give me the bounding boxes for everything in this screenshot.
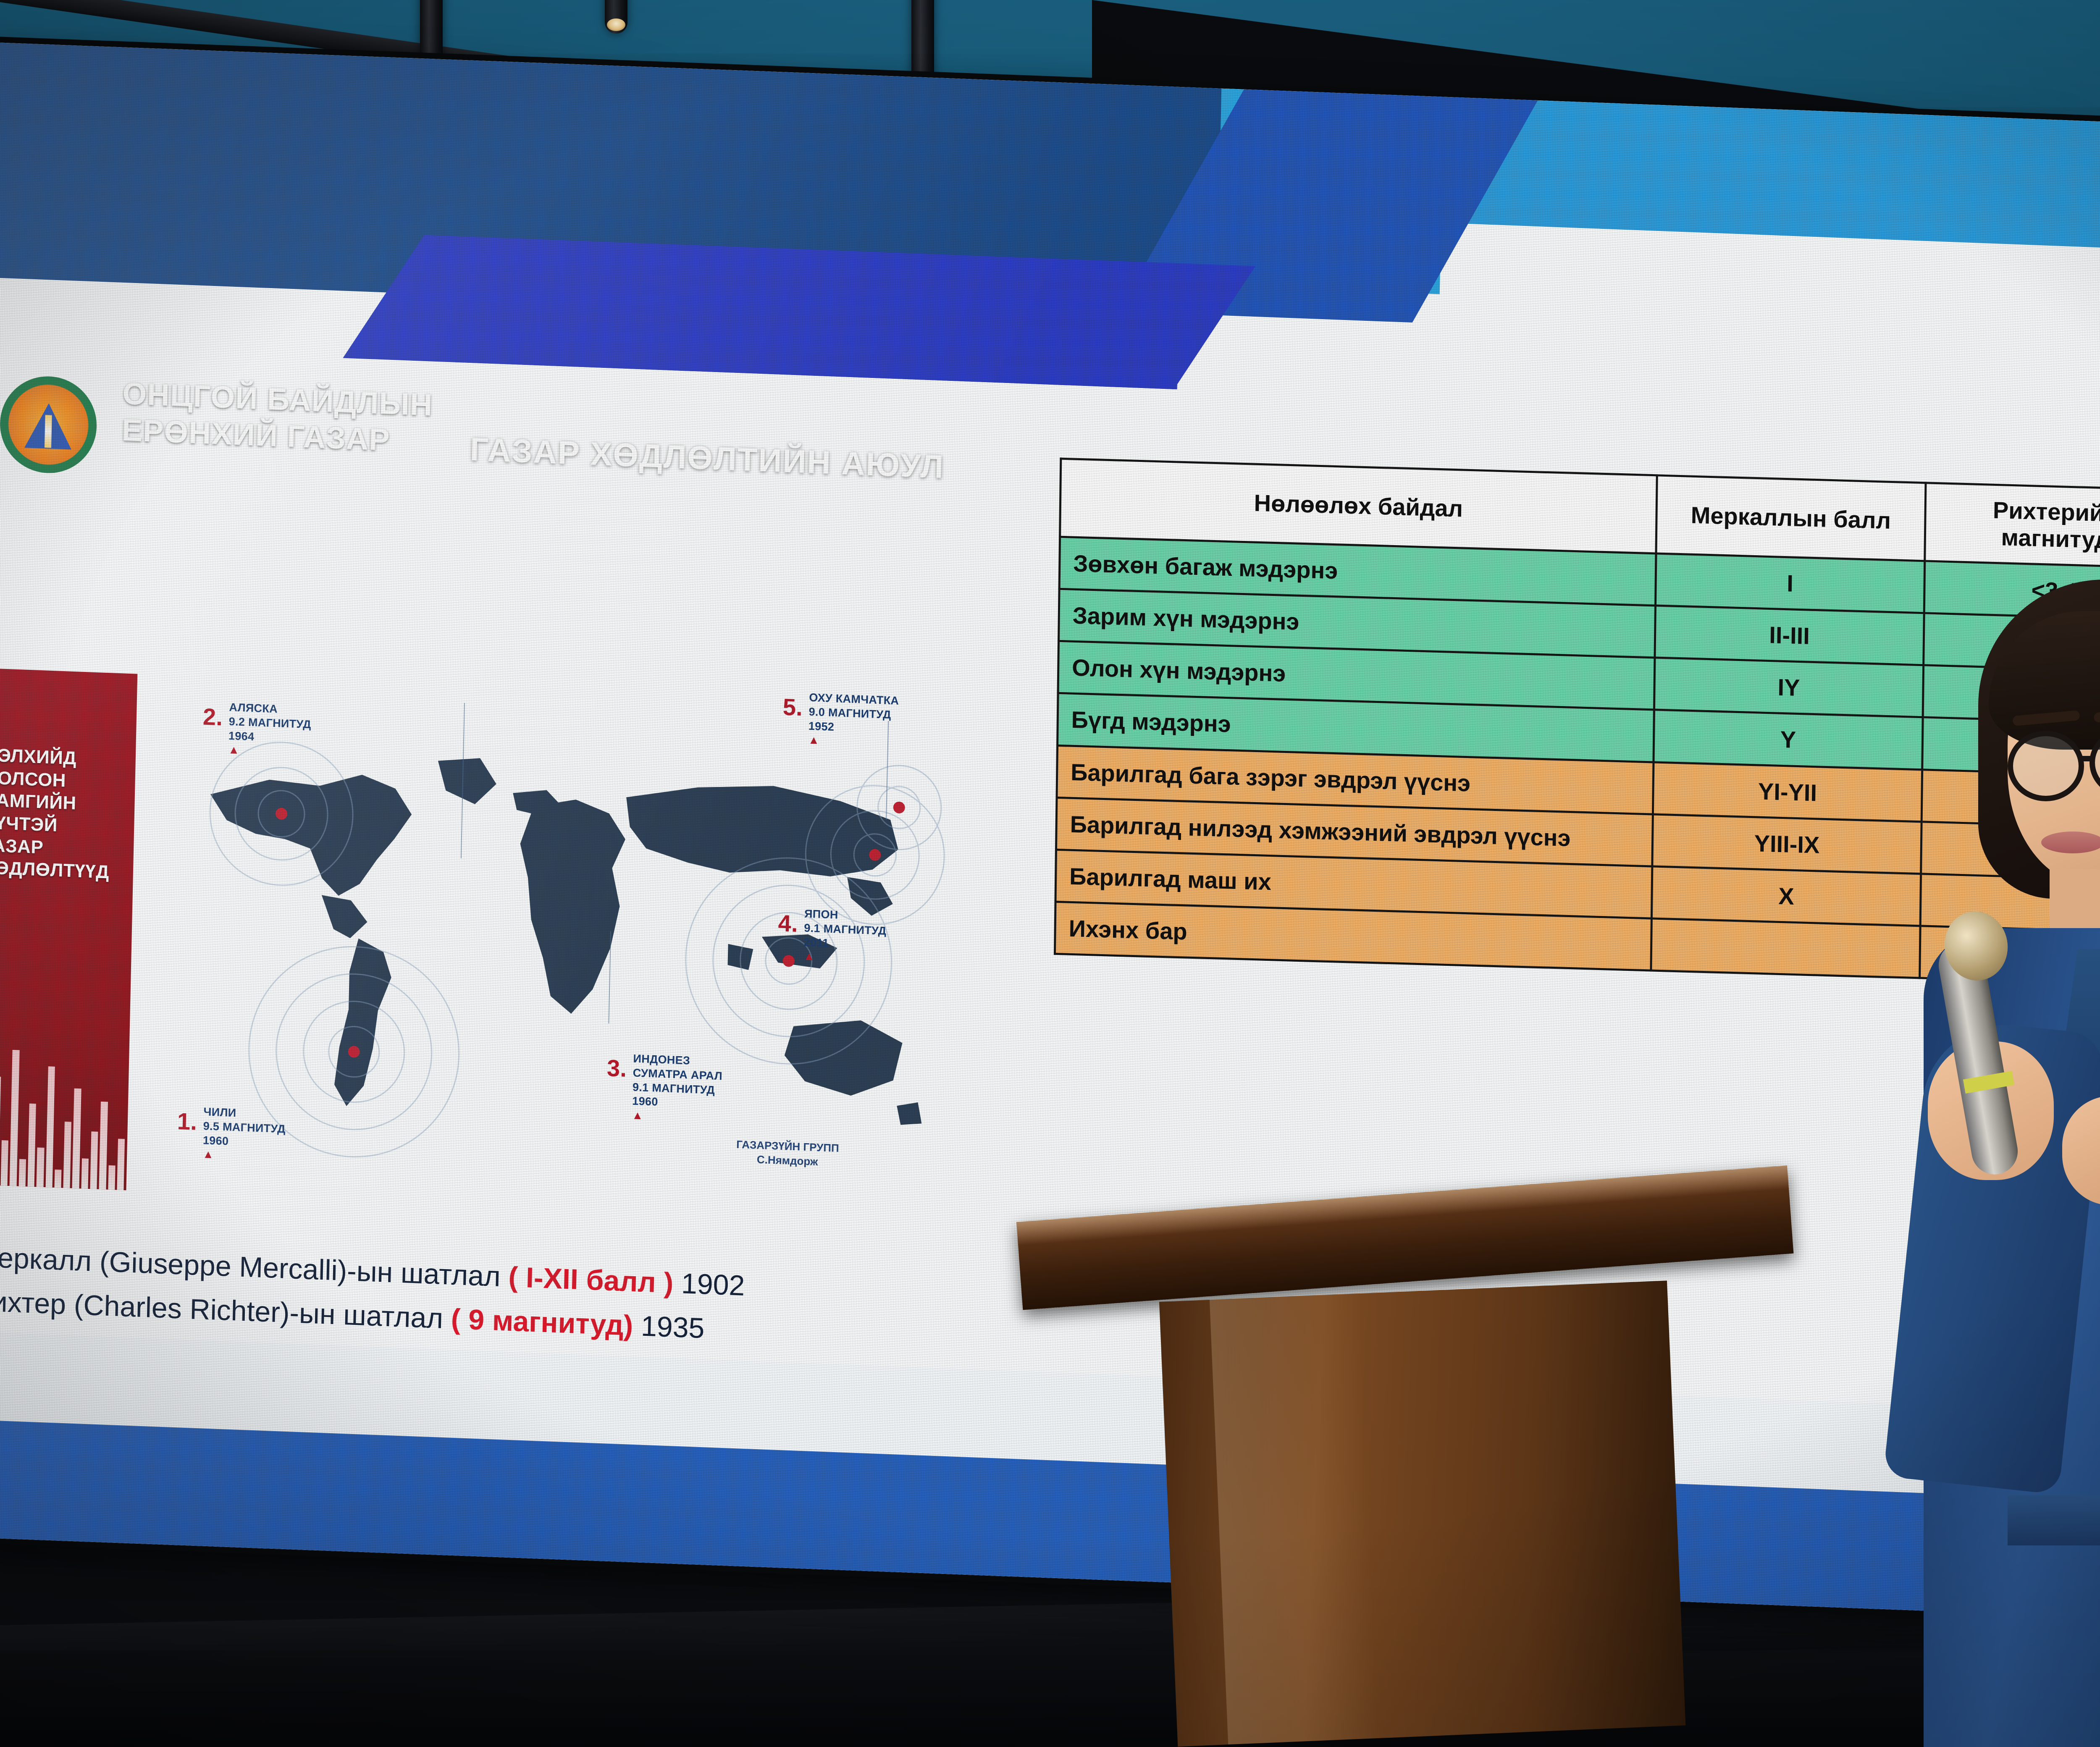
map-marker-5-number: 5. bbox=[782, 692, 803, 722]
table-header-mercalli: Меркаллын балл bbox=[1656, 475, 1926, 561]
red-card-line-2: ХАМГИЙН ХҮЧТЭЙ bbox=[0, 789, 122, 839]
richter-year: 1935 bbox=[633, 1310, 705, 1344]
red-card-line-3: ГАЗАР ХӨДЛӨЛТҮҮД bbox=[0, 834, 121, 884]
podium bbox=[1016, 1222, 1789, 1747]
mercalli-range: ( I-XII балл ) bbox=[508, 1261, 674, 1299]
eyeglasses-bridge bbox=[2082, 756, 2095, 761]
map-marker-3: 3. ИНДОНЕЗ СУМАТРА АРАЛ 9.1 МАГНИТУД 196… bbox=[632, 1052, 723, 1126]
map-marker-5: 5. ОХУ КАМЧАТКА 9.0 МАГНИТУД 1952 ▲ bbox=[808, 691, 899, 751]
uniform-belt bbox=[2008, 1495, 2100, 1545]
world-map: 2. АЛЯСКА 9.2 МАГНИТУД 1964 ▲ 5. ОХУ КАМ… bbox=[134, 653, 1019, 1228]
map-marker-4: 4. ЯПОН 9.1 МАГНИТУД 2011 ▲ bbox=[803, 907, 887, 967]
pendant-light bbox=[605, 0, 627, 34]
row-mercalli: X bbox=[1651, 866, 1921, 926]
podium-body bbox=[1159, 1280, 1685, 1747]
red-card-line-1: ДЭЛХИЙД БОЛСОН bbox=[0, 744, 123, 794]
map-marker-4-number: 4. bbox=[778, 908, 798, 939]
red-card-title: ДЭЛХИЙД БОЛСОН ХАМГИЙН ХҮЧТЭЙ ГАЗАР ХӨДЛ… bbox=[0, 744, 123, 884]
map-marker-3-number: 3. bbox=[606, 1053, 627, 1083]
row-mercalli: YIII-IX bbox=[1652, 814, 1921, 874]
map-credit: ГАЗАРЗҮЙН ГРУПП С.Нямдорж bbox=[736, 1138, 839, 1170]
map-marker-1-number: 1. bbox=[177, 1107, 197, 1137]
screenshot-root: ОНЦГОЙ БАЙДЛЫН ЕРӨНХИЙ ГАЗАР ГАЗАР ХӨДЛӨ… bbox=[0, 0, 2100, 1747]
map-marker-1: 1. ЧИЛИ 9.5 МАГНИТУД 1960 ▲ bbox=[202, 1105, 286, 1165]
table-header-richter: Рихтерийн магнитуд bbox=[1925, 483, 2100, 568]
mercalli-year: 1902 bbox=[673, 1267, 745, 1301]
richter-range: ( 9 магнитуд) bbox=[451, 1303, 633, 1342]
seismograph-waveform-icon bbox=[0, 1033, 129, 1191]
eyeglasses-icon bbox=[2008, 731, 2084, 801]
strongest-earthquakes-card: ДЭЛХИЙД БОЛСОН ХАМГИЙН ХҮЧТЭЙ ГАЗАР ХӨДЛ… bbox=[0, 668, 137, 1190]
row-mercalli bbox=[1651, 918, 1920, 978]
map-marker-2: 2. АЛЯСКА 9.2 МАГНИТУД 1964 ▲ bbox=[228, 700, 312, 760]
map-marker-2-number: 2. bbox=[202, 702, 223, 732]
presenter-mouth bbox=[2041, 832, 2100, 853]
presenter bbox=[1882, 580, 2100, 1747]
